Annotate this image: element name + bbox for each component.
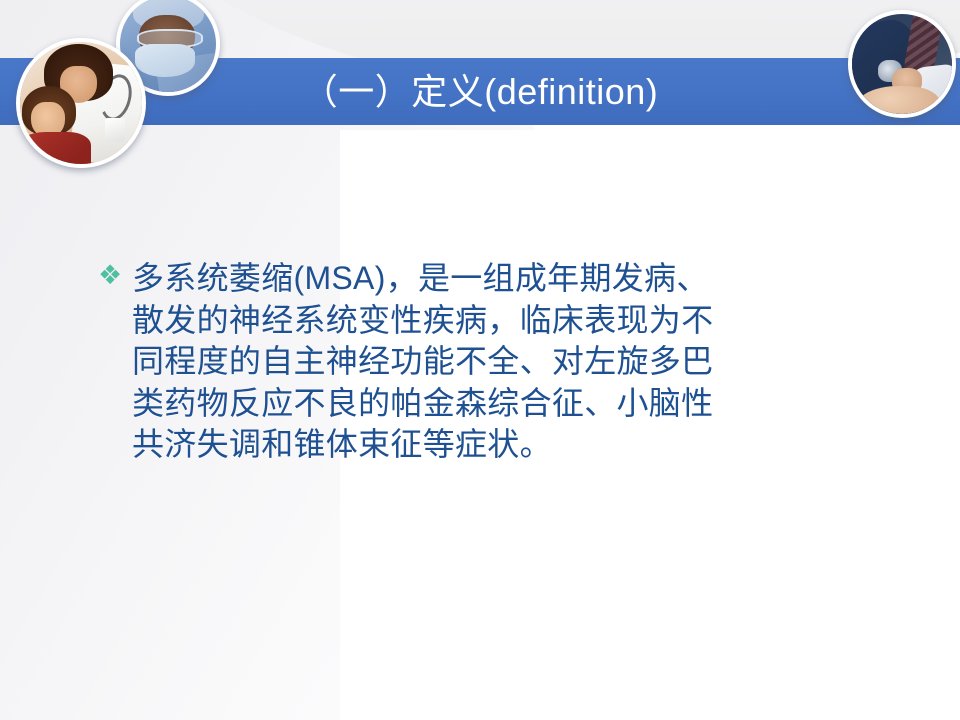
slide-canvas: （一）定义(definition) (0, 0, 960, 720)
paragraph-line: 多系统萎缩(MSA)，是一组成年期发病、 (132, 258, 858, 300)
paragraph-line: 同程度的自主神经功能不全、对左旋多巴 (132, 341, 858, 383)
paragraph-line: 类药物反应不良的帕金森综合征、小脑性 (132, 383, 858, 425)
paragraph-line: 共济失调和锥体束征等症状。 (132, 424, 858, 466)
definition-paragraph: 多系统萎缩(MSA)，是一组成年期发病、 散发的神经系统变性疾病，临床表现为不 … (132, 258, 858, 466)
family-clinician-photo (16, 38, 146, 168)
doctor-stethoscope-photo (848, 10, 956, 118)
doctor-stethoscope-photo-image (852, 14, 952, 114)
diamond-cluster-bullet-icon: ❖ (98, 262, 132, 289)
family-clinician-photo-image (20, 42, 142, 164)
paragraph-line: 散发的神经系统变性疾病，临床表现为不 (132, 300, 858, 342)
content-bullet-item: ❖ 多系统萎缩(MSA)，是一组成年期发病、 散发的神经系统变性疾病，临床表现为… (98, 258, 858, 466)
